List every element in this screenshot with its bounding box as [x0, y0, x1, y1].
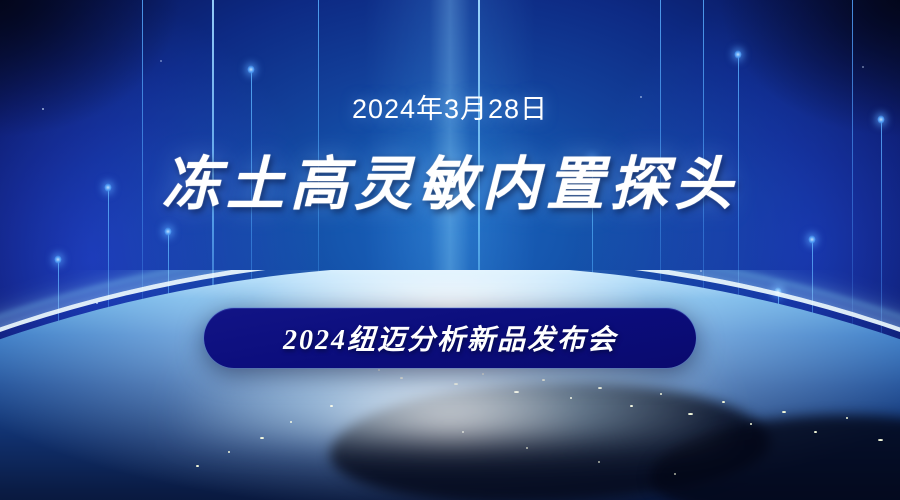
subtitle-pill: 2024纽迈分析新品发布会 [204, 308, 696, 368]
event-date: 2024年3月28日 [352, 96, 548, 123]
page-title: 冻土高灵敏内置探头 [162, 155, 738, 216]
event-banner: 2024年3月28日 冻土高灵敏内置探头 2024纽迈分析新品发布会 [0, 0, 900, 500]
banner-content: 2024年3月28日 冻土高灵敏内置探头 [0, 0, 900, 500]
subtitle-text: 2024纽迈分析新品发布会 [283, 318, 617, 358]
